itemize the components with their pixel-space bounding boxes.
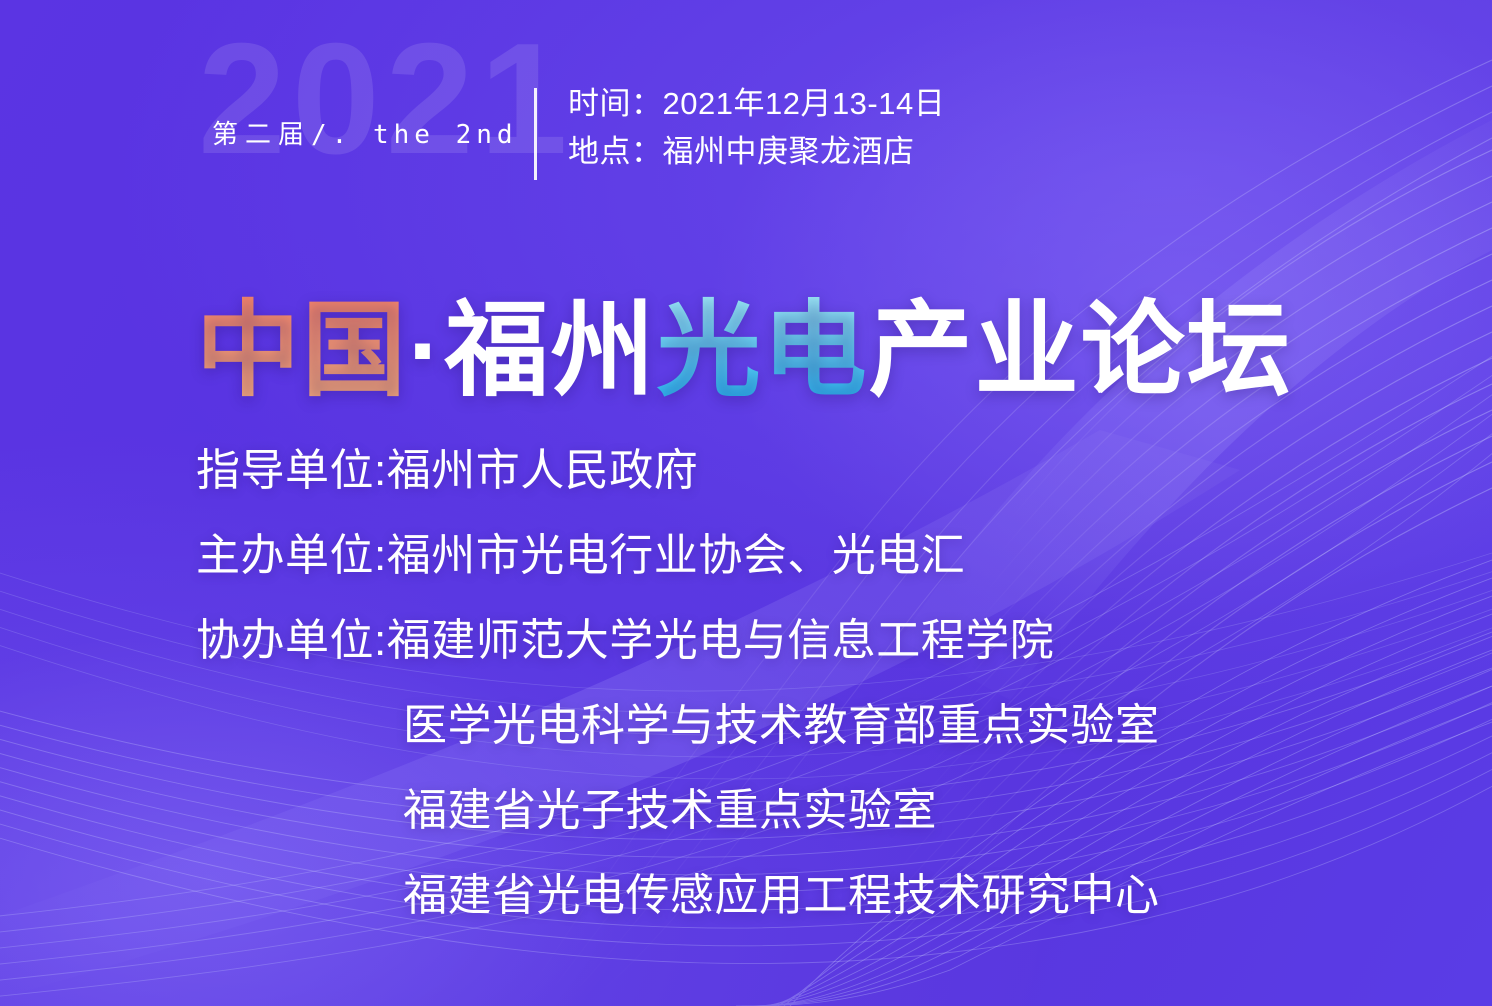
header-divider — [534, 88, 537, 180]
organizer-list: 指导单位:福州市人民政府 主办单位:福州市光电行业协会、光电汇 协办单位:福建师… — [196, 428, 1376, 938]
organizer-co-host-item-4: 福建省光电传感应用工程技术研究中心 — [196, 853, 1376, 938]
title-segment-fuzhou: ·福州 — [408, 293, 657, 409]
event-time: 时间：2021年12月13-14日 — [568, 80, 945, 128]
year-watermark: 2021 — [198, 20, 574, 178]
organizer-co-host-item-3: 福建省光子技术重点实验室 — [196, 768, 1376, 853]
edition-label: 第二届/. the 2nd — [212, 114, 518, 151]
organizer-co-host-item-2: 医学光电科学与技术教育部重点实验室 — [196, 683, 1376, 768]
organizer-co-host-unit: 协办单位:福建师范大学光电与信息工程学院 — [196, 598, 1376, 683]
title-segment-industry-forum: 产业论坛 — [869, 293, 1293, 409]
forum-poster: 2021 第二届/. the 2nd 时间：2021年12月13-14日 地点：… — [0, 0, 1492, 1006]
title-segment-optoelectronics: 光电 — [657, 293, 869, 409]
page-title: 中国·福州光电产业论坛 — [196, 292, 1293, 412]
poster-header: 2021 第二届/. the 2nd 时间：2021年12月13-14日 地点：… — [190, 28, 1310, 218]
event-meta: 时间：2021年12月13-14日 地点：福州中庚聚龙酒店 — [568, 80, 945, 176]
event-location: 地点：福州中庚聚龙酒店 — [568, 128, 945, 176]
organizer-host-unit: 主办单位:福州市光电行业协会、光电汇 — [196, 513, 1376, 598]
edition-label-en: /. the 2nd — [311, 120, 518, 150]
organizer-guidance-unit: 指导单位:福州市人民政府 — [196, 428, 1376, 513]
title-segment-china: 中国 — [196, 293, 408, 409]
edition-label-cn: 第二届 — [212, 120, 311, 150]
